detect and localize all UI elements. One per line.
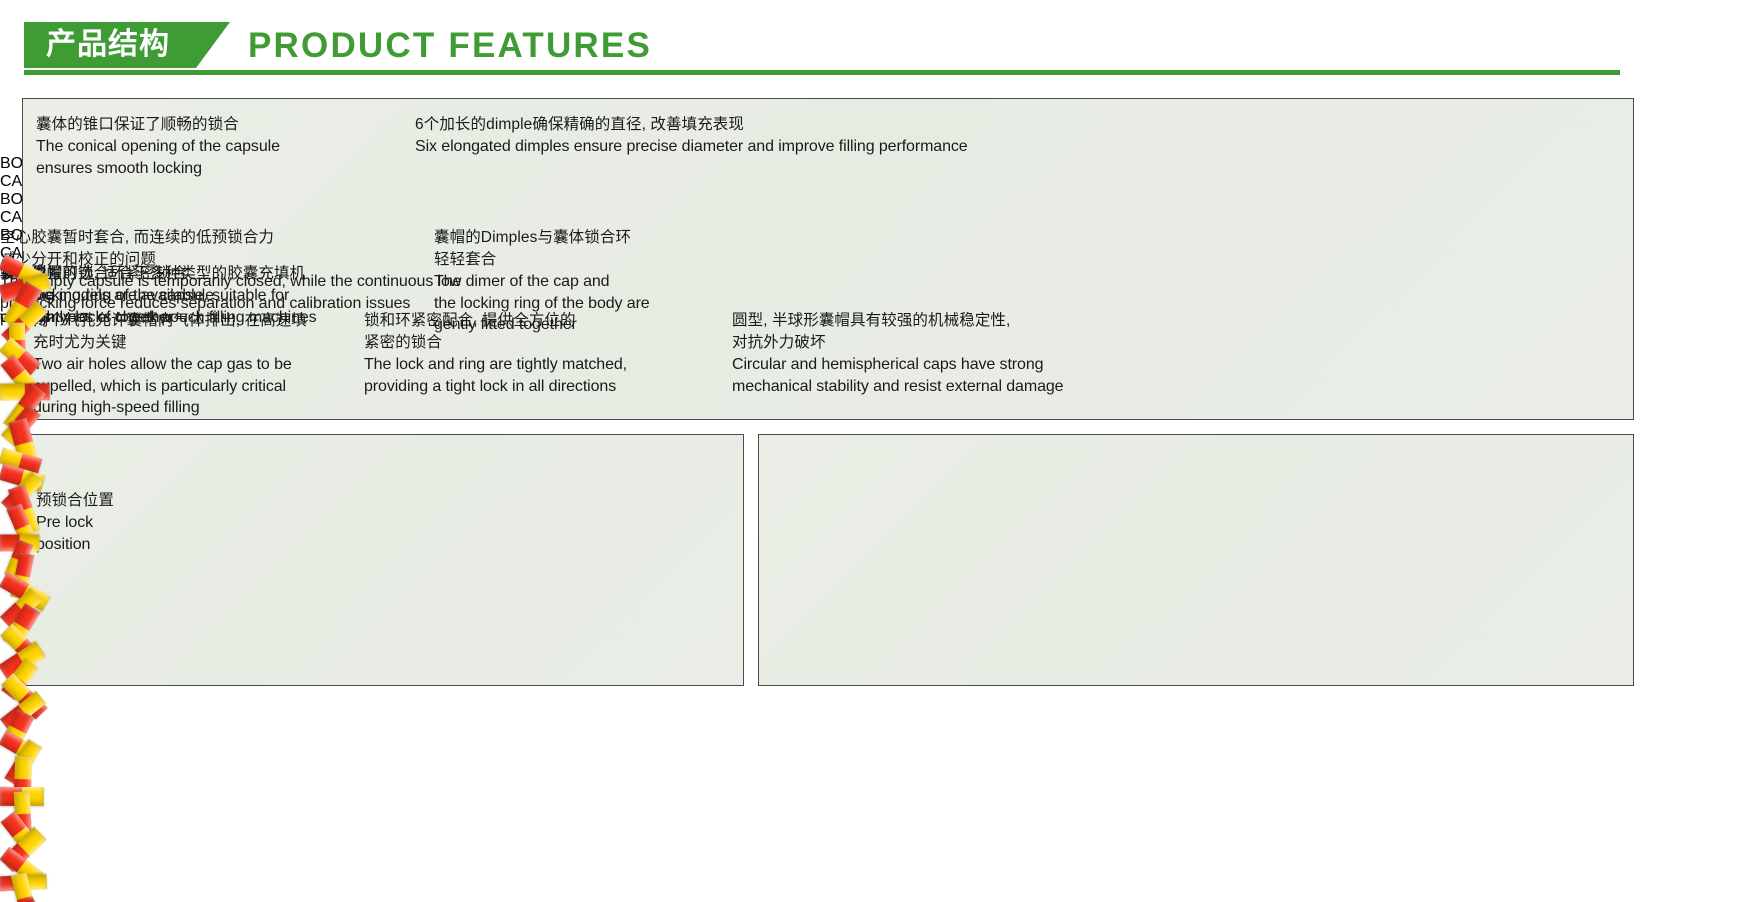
header-badge-wedge: [196, 22, 230, 68]
annotation-text-en-line1: Circular and hemispherical caps have str…: [732, 354, 1063, 376]
annotation-text-en-line3: during high-speed filling: [33, 397, 333, 419]
header-badge-label-cn: 产品结构: [46, 30, 170, 60]
annotation-text-cn-line1: 囊帽的Dimples与囊体锁合环: [434, 227, 650, 249]
annotation-text-en-line2: ensures smooth locking: [36, 158, 280, 180]
annotation-text-en-line2: expelled, which is particularly critical: [33, 376, 333, 398]
annotation-text-en-line1: Pre lock: [36, 512, 114, 534]
annotation-text-cn-line2: 充时尤为关键: [33, 332, 333, 354]
annotation-text-cn: 6个加长的dimple确保精确的直径, 改善填充表现: [415, 114, 968, 136]
header-badge: 产品结构: [24, 22, 230, 68]
page-title: PRODUCT FEATURES: [248, 24, 652, 68]
annotation-text-cn-line2: 轻轻套合: [434, 249, 650, 271]
header-badge-green-block: 产品结构: [24, 22, 196, 68]
annotation-text-en-line2: providing a tight lock in all directions: [364, 376, 627, 398]
annotation-elongated-dimples: 6个加长的dimple确保精确的直径, 改善填充表现 Six elongated…: [415, 114, 968, 158]
annotation-text-en-line2: the locking ring of the body are: [434, 293, 650, 315]
panel-pre-lock-position: [22, 434, 744, 686]
annotation-text-en-line1: The dimer of the cap and: [434, 271, 650, 293]
page-header: 产品结构 PRODUCT FEATURES: [0, 0, 1740, 92]
annotation-text-en-line3: gently fitted together: [434, 314, 650, 336]
annotation-text-en-line1: The lock and ring are tightly matched,: [364, 354, 627, 376]
annotation-text-cn-line1: 圆型, 半球形囊帽具有较强的机械稳定性,: [732, 310, 1063, 332]
annotation-multiple-models: 多种型号可选, 适合于多种类型的胶囊充填机 Multiple models ar…: [0, 263, 317, 328]
annotation-dimer-fitting: 囊帽的Dimples与囊体锁合环 轻轻套合 The dimer of the c…: [434, 227, 650, 336]
annotation-text-en-line1: Two air holes allow the cap gas to be: [33, 354, 333, 376]
annotation-text-en-line2: various types of cheek pouch filling mac…: [0, 307, 317, 329]
annotation-text-cn-line1: 空心胶囊暂时套合, 而连续的低预锁合力: [0, 227, 461, 249]
annotation-pre-lock-position: 预锁合位置 Pre lock position: [36, 490, 114, 555]
annotation-text-cn-line2: 对抗外力破坏: [732, 332, 1063, 354]
annotation-text-cn: 预锁合位置: [36, 490, 114, 512]
annotation-text-en-line1: Six elongated dimples ensure precise dia…: [415, 136, 968, 158]
annotation-text-cn: 囊体的锥口保证了顺畅的锁合: [36, 114, 280, 136]
header-divider: [24, 70, 1620, 75]
annotation-circular-cap: 圆型, 半球形囊帽具有较强的机械稳定性, 对抗外力破坏 Circular and…: [732, 310, 1063, 397]
annotation-text-en-line1: The conical opening of the capsule: [36, 136, 280, 158]
annotation-text-en-line2: mechanical stability and resist external…: [732, 376, 1063, 398]
annotation-text-en-line2: position: [36, 534, 114, 556]
panel-locking-position: [758, 434, 1634, 686]
annotation-conical-opening: 囊体的锥口保证了顺畅的锁合 The conical opening of the…: [36, 114, 280, 179]
